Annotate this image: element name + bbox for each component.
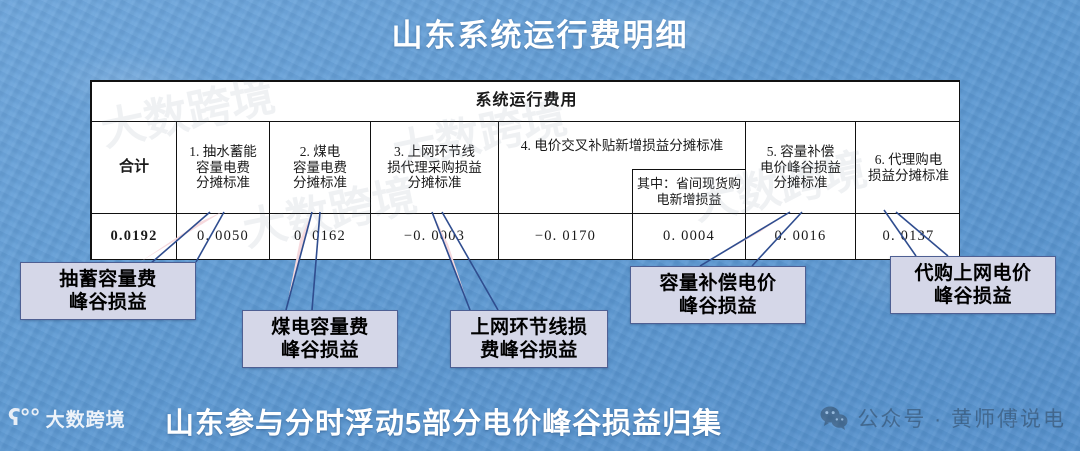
value-col-4: −0. 0170 bbox=[499, 214, 633, 260]
slide-canvas: 山东系统运行费明细 大数跨境 大数跨境 大数跨境 大数跨境 系统运 bbox=[0, 0, 1080, 451]
value-col-5: 0. 0016 bbox=[746, 214, 856, 260]
callout-2-line-1: 煤电容量费 bbox=[271, 316, 369, 339]
callout-3-line-2: 费峰谷损益 bbox=[480, 339, 578, 362]
callout-agency-purchase-price[interactable]: 代购上网电价 峰谷损益 bbox=[890, 256, 1056, 314]
callout-pumped-storage-capacity-fee[interactable]: 抽蓄容量费 峰谷损益 bbox=[20, 262, 196, 320]
callout-1-line-2: 峰谷损益 bbox=[69, 291, 147, 314]
header-col-4: 4. 电价交叉补贴新增损益分摊标准 bbox=[499, 122, 746, 170]
header-col-2-line-3: 分摊标准 bbox=[272, 175, 368, 191]
callout-3-line-1: 上网环节线损 bbox=[470, 316, 587, 339]
header-total: 合计 bbox=[92, 122, 177, 214]
callout-5-line-2: 峰谷损益 bbox=[934, 285, 1012, 308]
brand-name: 大数跨境 bbox=[46, 405, 126, 432]
value-col-4-sub: 0. 0004 bbox=[633, 214, 746, 260]
callout-capacity-compensation-price[interactable]: 容量补偿电价 峰谷损益 bbox=[630, 266, 806, 324]
header-col-5-line-1: 5. 容量补偿 bbox=[748, 144, 853, 160]
table-row-values: 0.0192 0. 0050 0. 0162 −0. 0003 −0. 0170… bbox=[92, 214, 961, 260]
bottom-bar: ʕ°° 大数跨境 山东参与分时浮动5部分电价峰谷损益归集 公众号 · 黄师傅说电 bbox=[0, 395, 1080, 451]
header-col-6: 6. 代理购电 损益分摊标准 bbox=[856, 122, 961, 214]
header-col-1: 1. 抽水蓄能 容量电费 分摊标准 bbox=[177, 122, 270, 214]
header-col-4-spacer bbox=[499, 170, 633, 214]
wechat-account-label: 公众号 · 黄师傅说电 bbox=[857, 403, 1066, 433]
callout-grid-line-loss-fee[interactable]: 上网环节线损 费峰谷损益 bbox=[450, 310, 608, 368]
header-col-4-sub-line-1: 其中：省间现货购 bbox=[635, 176, 743, 191]
header-col-3-line-3: 分摊标准 bbox=[373, 175, 496, 191]
header-col-3-line-2: 损代理采购损益 bbox=[373, 160, 496, 176]
table-banner-title: 系统运行费用 bbox=[92, 82, 961, 122]
header-col-6-line-2: 损益分摊标准 bbox=[858, 168, 959, 184]
wechat-icon bbox=[819, 405, 849, 431]
brand-logo: ʕ°° 大数跨境 bbox=[8, 405, 126, 432]
header-col-4-sub: 其中：省间现货购 电新增损益 bbox=[633, 170, 746, 214]
header-col-5: 5. 容量补偿 电价峰谷损益 分摊标准 bbox=[746, 122, 856, 214]
wechat-watermark: 公众号 · 黄师傅说电 bbox=[819, 403, 1066, 433]
bottom-caption: 山东参与分时浮动5部分电价峰谷损益归集 bbox=[165, 400, 722, 442]
header-col-6-line-1: 6. 代理购电 bbox=[858, 152, 959, 168]
system-operation-fee-table: 大数跨境 大数跨境 大数跨境 大数跨境 系统运行费用 bbox=[90, 80, 960, 260]
callout-2-line-2: 峰谷损益 bbox=[281, 339, 359, 362]
callout-5-line-1: 代购上网电价 bbox=[914, 262, 1031, 285]
value-col-1: 0. 0050 bbox=[177, 214, 270, 260]
value-col-6: 0. 0137 bbox=[856, 214, 961, 260]
header-col-1-line-3: 分摊标准 bbox=[179, 175, 267, 191]
value-col-3: −0. 0003 bbox=[371, 214, 499, 260]
header-col-3: 3. 上网环节线 损代理采购损益 分摊标准 bbox=[371, 122, 499, 214]
page-title: 山东系统运行费明细 bbox=[0, 10, 1080, 55]
header-col-5-line-2: 电价峰谷损益 bbox=[748, 160, 853, 176]
callout-4-line-2: 峰谷损益 bbox=[679, 295, 757, 318]
header-col-2-line-2: 容量电费 bbox=[272, 160, 368, 176]
value-col-2: 0. 0162 bbox=[270, 214, 371, 260]
header-col-5-line-3: 分摊标准 bbox=[748, 175, 853, 191]
callout-coal-capacity-fee[interactable]: 煤电容量费 峰谷损益 bbox=[242, 310, 398, 368]
brand-mark-icon: ʕ°° bbox=[8, 406, 40, 431]
header-col-2-line-1: 2. 煤电 bbox=[272, 144, 368, 160]
header-col-4-sub-line-2: 电新增损益 bbox=[635, 192, 743, 207]
header-col-1-line-1: 1. 抽水蓄能 bbox=[179, 144, 267, 160]
header-col-1-line-2: 容量电费 bbox=[179, 160, 267, 176]
header-col-3-line-1: 3. 上网环节线 bbox=[373, 144, 496, 160]
callout-4-line-1: 容量补偿电价 bbox=[659, 272, 776, 295]
callout-1-line-1: 抽蓄容量费 bbox=[59, 268, 157, 291]
header-col-2: 2. 煤电 容量电费 分摊标准 bbox=[270, 122, 371, 214]
value-total: 0.0192 bbox=[92, 214, 177, 260]
